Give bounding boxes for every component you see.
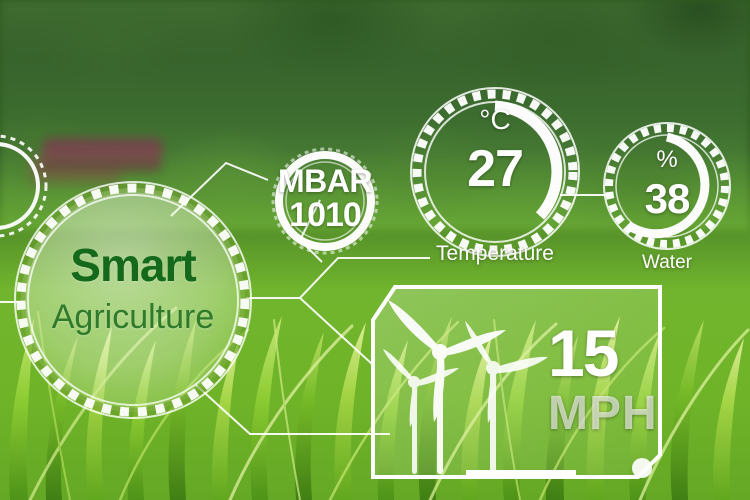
hud-overlay: MBAR 1010 °C 27 Temperature % 38 Water S… — [0, 0, 750, 500]
temperature-unit: °C — [440, 106, 550, 134]
temperature-value: 27 — [440, 143, 550, 195]
pressure-unit: MBAR — [270, 165, 380, 197]
brand-title-primary: Smart — [33, 242, 233, 288]
brand-title-secondary: Agriculture — [33, 300, 233, 334]
wind-panel-dot — [632, 458, 652, 478]
wind-speed-value: 15 — [548, 320, 668, 386]
wind-panel-bottom-bar — [466, 470, 576, 479]
water-value: 38 — [622, 178, 712, 220]
water-unit: % — [622, 148, 712, 172]
gauge-partial-left — [0, 136, 46, 236]
screenshot-root: MBAR 1010 °C 27 Temperature % 38 Water S… — [0, 0, 750, 500]
wind-speed-unit: MPH — [548, 390, 668, 438]
pressure-value: 1010 — [270, 198, 380, 232]
temperature-label: Temperature — [425, 243, 565, 264]
water-label: Water — [612, 253, 722, 272]
